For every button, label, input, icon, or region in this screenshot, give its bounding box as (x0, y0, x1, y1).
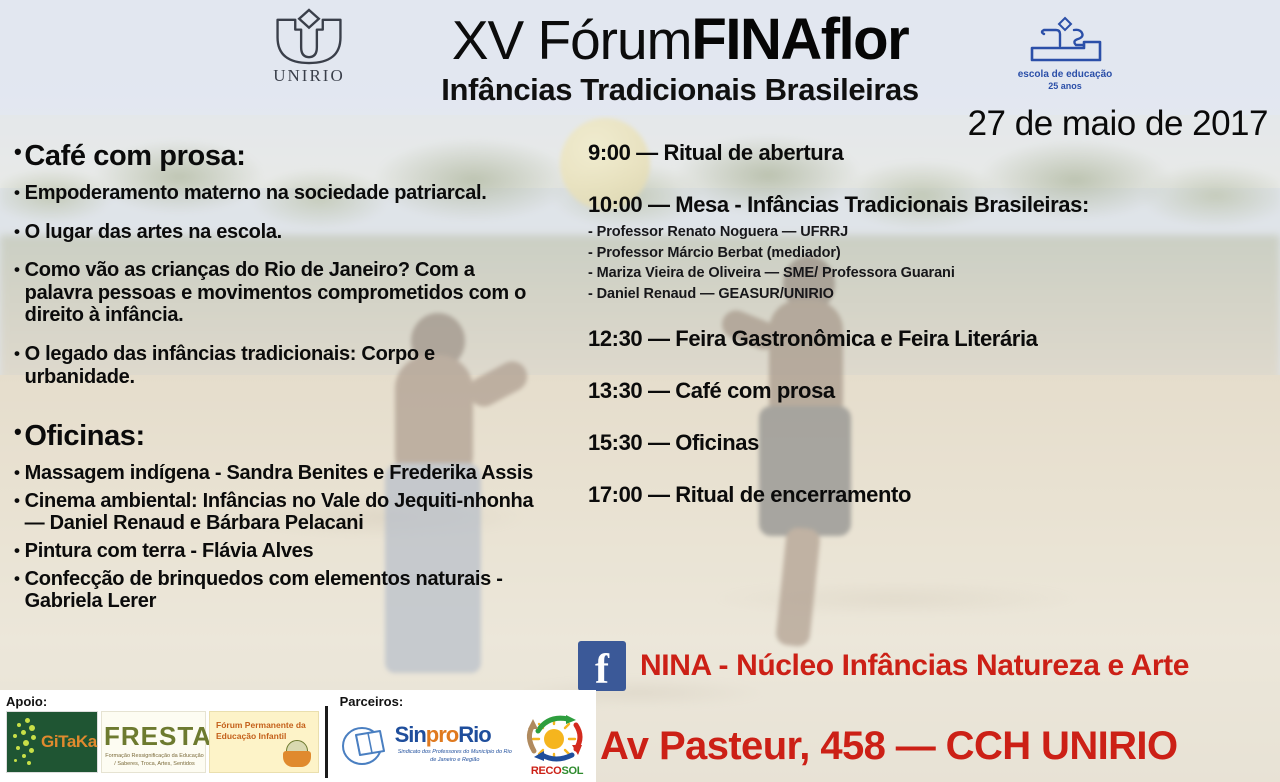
oficinas-heading-label: Oficinas: (24, 420, 145, 453)
poster-subtitle: Infâncias Tradicionais Brasileiras (380, 72, 980, 108)
sponsor-bar: Apoio: GiTaKa FR (0, 690, 596, 782)
sinpro-subtitle: Sindicato dos Professores do Município d… (395, 748, 515, 765)
bullet-icon: • (14, 420, 21, 443)
bullet-icon: • (14, 182, 20, 203)
schedule-item-1700: 17:00 — Ritual de encerramento (588, 482, 1278, 508)
list-item: • Massagem indígena - Sandra Benites e F… (14, 462, 544, 485)
schedule-item-1000: 10:00 — Mesa - Infâncias Tradicionais Br… (588, 192, 1278, 218)
cafe-heading-label: Café com prosa: (24, 140, 245, 173)
list-item: • O lugar das artes na escola. (14, 221, 544, 244)
sponsor-divider (325, 706, 328, 778)
facebook-row[interactable]: f NINA - Núcleo Infâncias Natureza e Art… (578, 641, 1189, 691)
cafe-item-0: Empoderamento materno na sociedade patri… (25, 182, 544, 205)
cafe-item-1: O lugar das artes na escola. (25, 221, 544, 244)
speaker-list: - Professor Renato Noguera — UFRRJ - Pro… (588, 222, 1278, 304)
bullet-icon: • (14, 343, 20, 364)
recosol-name-b: SOL (561, 765, 583, 777)
list-item: • O legado das infâncias tradicionais: C… (14, 343, 544, 388)
schedule-item-0900: 9:00 — Ritual de abertura (588, 140, 1278, 166)
recosol-name-a: RECO (531, 765, 562, 777)
escola-educacao-logo: escola de educação 25 anos (1005, 16, 1125, 91)
title-prefix: XV Fórum (452, 9, 692, 71)
bullet-icon: • (14, 140, 21, 163)
list-item: • Cinema ambiental: Infâncias no Vale do… (14, 490, 544, 535)
venue-address: Av Pasteur, 458 — CCH UNIRIO (600, 724, 1177, 769)
frestas-name: FRESTAS (104, 721, 205, 752)
escola-caption-line2: 25 anos (1005, 81, 1125, 91)
bullet-icon: • (14, 259, 20, 280)
facebook-glyph: f (595, 649, 609, 691)
oficina-item-3: Confecção de brinquedos com elementos na… (25, 568, 544, 613)
gitaka-name: GiTaKa (41, 732, 97, 752)
schedule-column: 9:00 — Ritual de abertura 10:00 — Mesa -… (588, 140, 1278, 534)
list-item: • Empoderamento materno na sociedade pat… (14, 182, 544, 205)
nina-label: NINA - Núcleo Infâncias Natureza e Arte (640, 649, 1189, 683)
unirio-logo-label: UNIRIO (273, 66, 345, 86)
event-date: 27 de maio de 2017 (968, 104, 1268, 144)
apoio-label: Apoio: (6, 694, 319, 709)
poster-title-block: XV FórumFINAflor Infâncias Tradicionais … (380, 12, 980, 108)
speaker-2: - Mariza Vieira de Oliveira — SME/ Profe… (588, 263, 1278, 284)
bullet-icon: • (14, 490, 20, 511)
cafe-item-2: Como vão as crianças do Rio de Janeiro? … (25, 259, 544, 327)
recosol-logo: RECOSOL (518, 711, 596, 777)
sinpro-cube-icon (340, 721, 392, 767)
bullet-icon: • (14, 221, 20, 242)
bullet-icon: • (14, 462, 20, 483)
escola-mark-icon (1022, 16, 1108, 68)
left-column: • Café com prosa: • Empoderamento matern… (14, 140, 544, 618)
speaker-3: - Daniel Renaud — GEASUR/UNIRIO (588, 284, 1278, 305)
list-item: • Pintura com terra - Flávia Alves (14, 540, 544, 563)
unirio-logo: UNIRIO (262, 8, 356, 86)
parceiros-group: Parceiros: (334, 690, 596, 782)
oficina-item-2: Pintura com terra - Flávia Alves (25, 540, 544, 563)
frestas-tagline: Formação Ressignificação da Educação / S… (104, 752, 205, 769)
oficina-item-1: Cinema ambiental: Infâncias no Vale do J… (25, 490, 544, 535)
bullet-icon: • (14, 568, 20, 589)
cafe-heading: • Café com prosa: (14, 140, 544, 173)
list-item: • Confecção de brinquedos com elementos … (14, 568, 544, 613)
gitaka-logo: GiTaKa (6, 711, 98, 773)
escola-caption-line1: escola de educação (1018, 69, 1113, 80)
forum-educacao-infantil-logo: Fórum Permanente da Educação Infantil (209, 711, 319, 773)
sinpro-name-c: Rio (458, 722, 490, 747)
forum-illustration-icon (280, 737, 314, 767)
frestas-logo: FRESTAS Formação Ressignificação da Educ… (101, 711, 206, 773)
schedule-item-1530: 15:30 — Oficinas (588, 430, 1278, 456)
unirio-mark-icon (271, 8, 347, 65)
speaker-0: - Professor Renato Noguera — UFRRJ (588, 222, 1278, 243)
bullet-icon: • (14, 540, 20, 561)
escola-logo-caption: escola de educação 25 anos (1005, 69, 1125, 91)
recosol-sun-arrows-icon (518, 711, 596, 765)
schedule-item-1330: 13:30 — Café com prosa (588, 378, 1278, 404)
poster-header: UNIRIO XV FórumFINAflor Infâncias Tradic… (0, 0, 1280, 115)
cafe-item-3: O legado das infâncias tradicionais: Cor… (25, 343, 544, 388)
oficinas-heading: • Oficinas: (14, 420, 544, 453)
list-item: • Como vão as crianças do Rio de Janeiro… (14, 259, 544, 327)
oficina-item-0: Massagem indígena - Sandra Benites e Fre… (25, 462, 544, 485)
gitaka-dots-icon (11, 716, 45, 770)
sinpro-name-a: Sin (395, 722, 426, 747)
facebook-icon[interactable]: f (578, 641, 626, 691)
schedule-item-1230: 12:30 — Feira Gastronômica e Feira Liter… (588, 326, 1278, 352)
speaker-1: - Professor Márcio Berbat (mediador) (588, 243, 1278, 264)
parceiros-label: Parceiros: (340, 694, 596, 709)
title-brand: FINAflor (691, 7, 908, 72)
sinpro-name-b: pro (426, 722, 458, 747)
sinprorio-logo: SinproRio Sindicato dos Professores do M… (340, 721, 515, 767)
apoio-group: Apoio: GiTaKa FR (0, 690, 319, 782)
poster-canvas: UNIRIO XV FórumFINAflor Infâncias Tradic… (0, 0, 1280, 782)
